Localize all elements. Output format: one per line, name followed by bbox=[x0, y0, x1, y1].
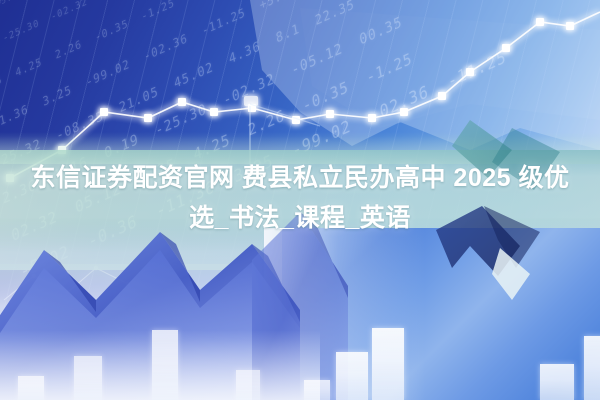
teal-band-bottom-fade bbox=[0, 264, 600, 296]
lower-right-blue-block bbox=[282, 228, 600, 400]
background-blob bbox=[250, 0, 600, 150]
bar-column bbox=[152, 330, 178, 400]
ticker-number-row: -25.32 -08.35 21.05 45.02 4.36 8.1 22.35 bbox=[0, 0, 356, 171]
bar-column bbox=[18, 376, 44, 400]
bar-column bbox=[540, 364, 574, 400]
headline-line-2: 选_书法_课程_英语 bbox=[22, 198, 578, 238]
headline-line-1: 东信证券配资官网 费县私立民办高中 2025 级优 bbox=[22, 158, 578, 198]
bar-column bbox=[74, 356, 102, 400]
headline-text: 东信证券配资官网 费县私立民办高中 2025 级优 选_书法_课程_英语 bbox=[0, 158, 600, 238]
finance-banner-image: -99.02 -02.36 -11.25 +5.02 -50.02 -25.32… bbox=[0, 0, 600, 400]
ticker-number-row: 21.05 45.02 4.36 8.1 22.35 2.36 1.16 bbox=[0, 0, 184, 25]
node-network bbox=[4, 256, 162, 300]
ticker-number-row: 1.25 4.25 2.26 -0.35 -1.25 -5.02 -0.36 bbox=[0, 0, 269, 98]
lower-right-fade bbox=[264, 228, 600, 400]
bar-column bbox=[584, 336, 600, 400]
bar-column bbox=[236, 370, 260, 400]
bar-column bbox=[304, 380, 330, 400]
lower-wash bbox=[0, 220, 600, 400]
bar-column bbox=[372, 328, 404, 400]
glow-polyline bbox=[6, 12, 600, 182]
bar-column bbox=[336, 352, 368, 400]
ticker-number-row: -11.36 3.25 -99.02 -02.36 -11.25 +5.02 -… bbox=[0, 0, 355, 135]
ticker-number-row: 0.19 -25.30 -02.32 -05.12 00.35 02.32 05… bbox=[0, 0, 263, 61]
